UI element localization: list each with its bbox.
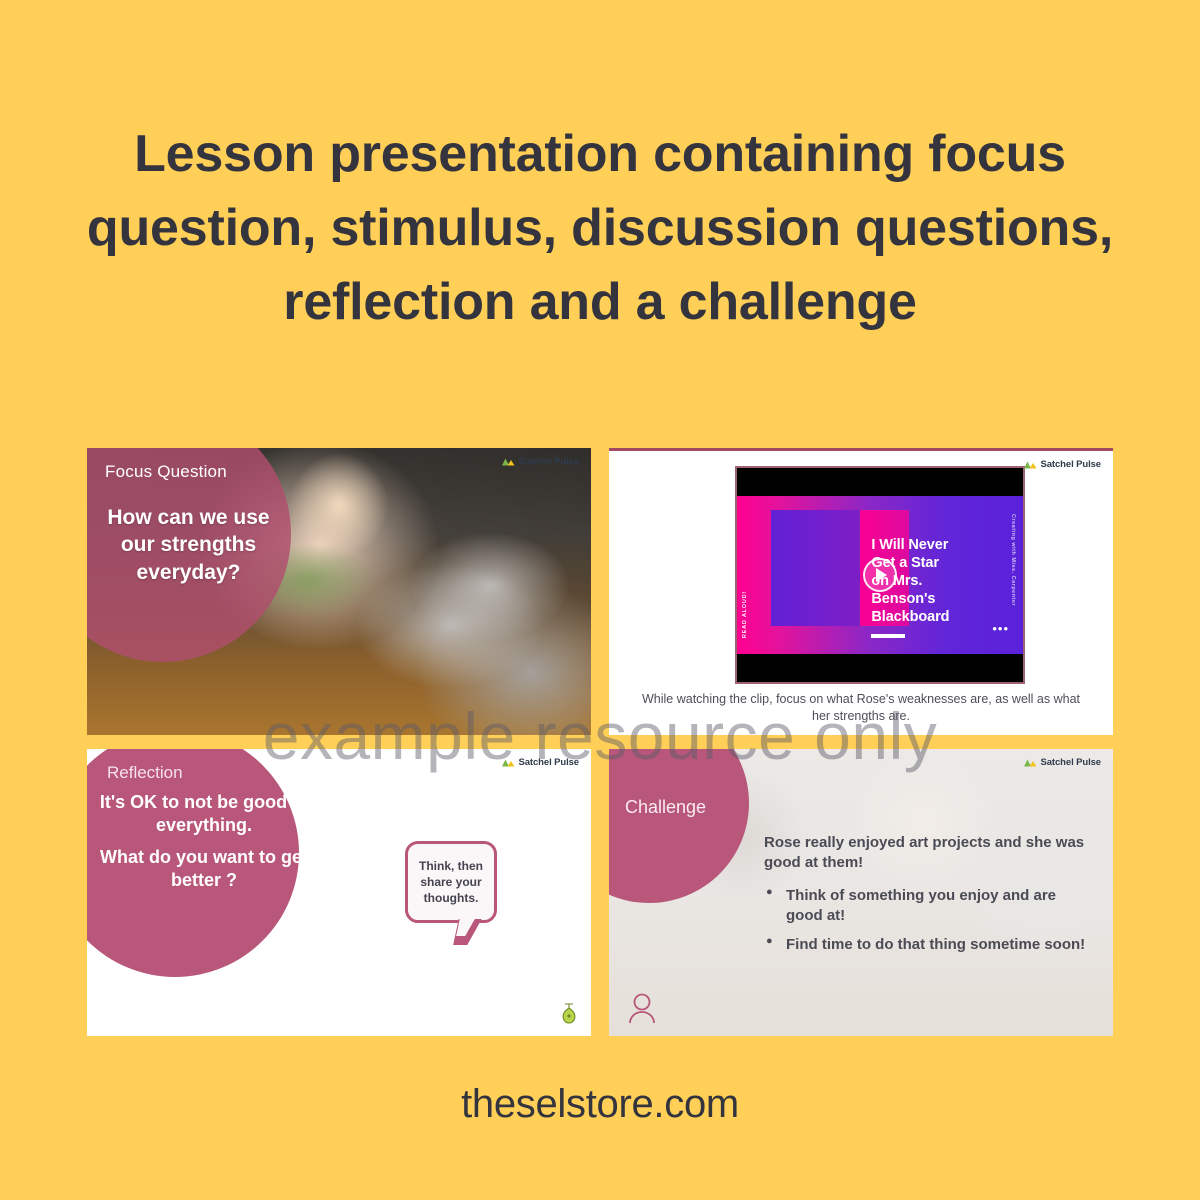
- brand-name: Satchel Pulse: [1041, 757, 1101, 768]
- mountains-icon: [1023, 459, 1037, 470]
- mountains-icon: [501, 757, 515, 768]
- reflection-statement: It's OK to not be good at everything.: [100, 792, 308, 835]
- video-title-line-4: Benson's: [871, 591, 949, 609]
- seed-icon: [559, 1002, 579, 1026]
- slide-focus-question[interactable]: Focus Question How can we use our streng…: [87, 448, 591, 735]
- poster-root: Lesson presentation containing focus que…: [0, 0, 1200, 1200]
- mountains-icon: [501, 456, 515, 467]
- creator-label: Creating with Miss. Carpenter: [1010, 514, 1016, 606]
- video-embed[interactable]: READ ALOUD! Creating with Miss. Carpente…: [735, 466, 1025, 684]
- satchel-pulse-logo: Satchel Pulse: [1023, 757, 1101, 768]
- slide-grid: Focus Question How can we use our streng…: [87, 448, 1113, 1036]
- slide-reflection[interactable]: Reflection It's OK to not be good at eve…: [87, 749, 591, 1036]
- play-icon[interactable]: [863, 558, 897, 592]
- slide-kicker: Focus Question: [105, 462, 227, 482]
- title-underline: [871, 634, 905, 638]
- speech-bubble-text: Think, then share your thoughts.: [408, 858, 494, 907]
- footer-url: theselstore.com: [0, 1082, 1200, 1127]
- person-icon: [627, 992, 657, 1024]
- letterbox-top: [737, 468, 1023, 496]
- brand-name: Satchel Pulse: [519, 456, 579, 467]
- slide-kicker: Challenge: [625, 797, 706, 818]
- reflection-prompt: What do you want to get better ?: [95, 846, 313, 891]
- focus-question-text: How can we use our strengths everyday?: [101, 504, 276, 586]
- ellipsis-icon[interactable]: •••: [992, 621, 1009, 636]
- slide-kicker: Reflection: [107, 763, 183, 783]
- challenge-lead: Rose really enjoyed art projects and she…: [764, 833, 1093, 872]
- satchel-pulse-logo: Satchel Pulse: [501, 456, 579, 467]
- brand-name: Satchel Pulse: [519, 757, 579, 768]
- satchel-pulse-logo: Satchel Pulse: [501, 757, 579, 768]
- list-item: Find time to do that thing sometime soon…: [764, 935, 1093, 955]
- reflection-text: It's OK to not be good at everything. Wh…: [95, 791, 313, 891]
- stimulus-caption: While watching the clip, focus on what R…: [637, 691, 1085, 725]
- brand-name: Satchel Pulse: [1041, 459, 1101, 470]
- read-aloud-label: READ ALOUD!: [742, 591, 748, 638]
- page-title: Lesson presentation containing focus que…: [60, 118, 1140, 339]
- letterbox-bottom: [737, 654, 1023, 682]
- mountains-icon: [1023, 757, 1037, 768]
- slide-challenge[interactable]: Challenge Rose really enjoyed art projec…: [609, 749, 1113, 1036]
- speech-bubble: Think, then share your thoughts.: [405, 841, 497, 923]
- video-title-line-1: I Will Never: [871, 537, 949, 555]
- challenge-bullet-list: Think of something you enjoy and are goo…: [764, 886, 1093, 955]
- video-title-line-5: Blackboard: [871, 609, 949, 627]
- list-item: Think of something you enjoy and are goo…: [764, 886, 1093, 925]
- satchel-pulse-logo: Satchel Pulse: [1023, 459, 1101, 470]
- slide-stimulus[interactable]: Satchel Pulse READ ALOUD! Creating with …: [609, 448, 1113, 735]
- challenge-body: Rose really enjoyed art projects and she…: [764, 833, 1093, 965]
